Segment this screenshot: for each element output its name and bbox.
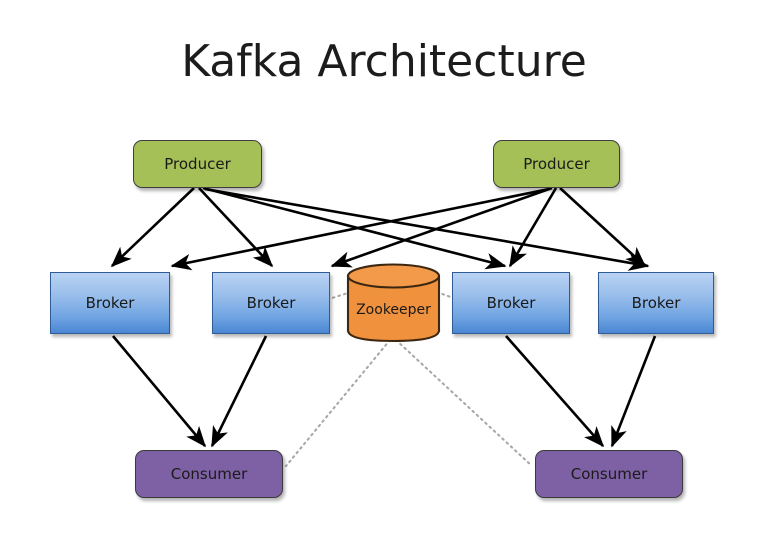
page-title: Kafka Architecture — [0, 36, 768, 87]
node-broker-3[interactable]: Broker — [452, 272, 570, 334]
dotted-zookeeper-consumer2 — [396, 340, 532, 466]
arrow-producer1-broker3 — [203, 188, 505, 266]
broker-1-label: Broker — [86, 294, 135, 312]
node-broker-4[interactable]: Broker — [598, 272, 714, 334]
consumer-2-label: Consumer — [571, 465, 648, 483]
arrow-producer1-broker2 — [199, 188, 272, 266]
edge-producer2-to-brokers — [172, 188, 645, 266]
producer-1-label: Producer — [164, 155, 230, 173]
node-consumer-1[interactable]: Consumer — [135, 450, 283, 498]
edge-producer1-to-brokers — [112, 188, 648, 266]
consumer-1-label: Consumer — [171, 465, 248, 483]
arrow-broker4-consumer2 — [612, 336, 655, 446]
node-consumer-2[interactable]: Consumer — [535, 450, 683, 498]
edge-brokers-to-consumer1 — [113, 336, 266, 446]
edge-brokers-to-consumer2 — [506, 336, 655, 446]
node-producer-1[interactable]: Producer — [133, 140, 262, 188]
node-producer-2[interactable]: Producer — [493, 140, 620, 188]
arrow-producer2-broker1 — [172, 189, 549, 266]
arrow-broker2-consumer1 — [212, 336, 266, 446]
broker-2-label: Broker — [247, 294, 296, 312]
node-broker-2[interactable]: Broker — [212, 272, 330, 334]
zookeeper-label: Zookeeper — [356, 302, 431, 318]
node-broker-1[interactable]: Broker — [50, 272, 170, 334]
producer-2-label: Producer — [523, 155, 589, 173]
arrow-producer2-broker3 — [510, 188, 556, 266]
arrow-broker1-consumer1 — [113, 336, 205, 446]
arrow-producer2-broker2 — [332, 188, 552, 266]
node-zookeeper[interactable]: Zookeeper — [347, 302, 440, 318]
broker-3-label: Broker — [487, 294, 536, 312]
arrow-broker3-consumer2 — [506, 336, 603, 446]
arrow-producer1-broker1 — [112, 188, 194, 266]
arrow-producer2-broker4 — [560, 188, 645, 266]
diagram-canvas: Kafka Architecture — [0, 0, 768, 554]
broker-4-label: Broker — [632, 294, 681, 312]
dotted-zookeeper-consumer1 — [286, 340, 390, 466]
arrow-producer1-broker4 — [205, 189, 648, 266]
